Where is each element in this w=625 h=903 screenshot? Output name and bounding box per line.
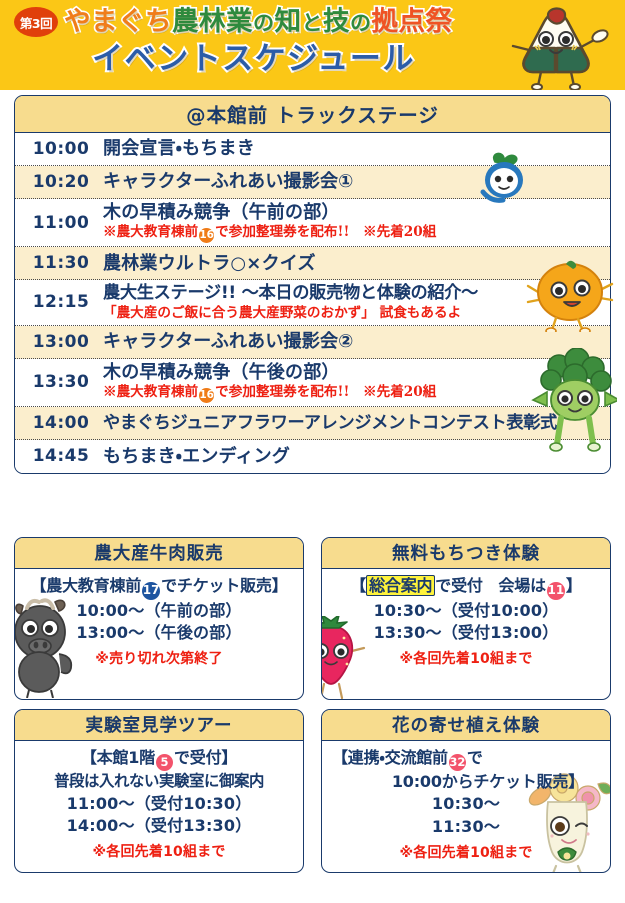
info-box-lab-tour: 実験室見学ツアー 【本館1階5で受付】 普段は入れない実験室に御案内 11:00… <box>14 709 304 873</box>
venue-post: でチケット販売】 <box>161 576 287 595</box>
session-time: 13:30～（受付13:00） <box>326 622 606 645</box>
row-title: 木の早積み競争（午前の部） <box>103 202 606 223</box>
schedule-row: 10:00 開会宣言・もちまき <box>15 133 610 166</box>
edition-badge: 第3回 <box>14 7 58 37</box>
row-note: ※農大教育棟前16で参加整理券を配布!! ※先着20組 <box>103 224 606 243</box>
row-note-post: で参加整理券を配布!! ※先着20組 <box>215 384 436 400</box>
schedule-row: 11:30 農林業ウルトラ○×クイズ <box>15 247 610 280</box>
row-body: 木の早積み競争（午前の部） ※農大教育棟前16で参加整理券を配布!! ※先着20… <box>101 199 610 246</box>
info-box-body: 【総合案内で受付 会場は11】 10:30～（受付10:00） 13:30～（受… <box>322 569 610 668</box>
row-body: キャラクターふれあい撮影会② <box>101 328 610 355</box>
info-box-title: 花の寄せ植え体験 <box>322 710 610 741</box>
row-note-pre: ※農大教育棟前 <box>103 384 198 400</box>
session-time: 14:00～（受付13:30） <box>19 815 299 838</box>
venue-highlight: 総合案内 <box>366 575 435 596</box>
info-box-note: ※各回先着10組まで <box>19 841 299 861</box>
venue-post: 】 <box>566 576 582 595</box>
row-title: キャラクターふれあい撮影会② <box>103 331 606 352</box>
venue-line: 【農大教育棟前17でチケット販売】 <box>19 575 299 600</box>
row-title: キャラクターふれあい撮影会① <box>103 171 606 192</box>
schedule-row: 10:20 キャラクターふれあい撮影会① <box>15 166 610 199</box>
header-title-row: 第3回 やまぐち農林業の知と技の拠点祭 <box>14 7 453 37</box>
session-time: 10:30～（受付10:00） <box>326 600 606 623</box>
info-box-body: 【連携・交流館前32で 10:00からチケット販売】 10:30～ 11:30～… <box>322 741 610 862</box>
venue-pre: 【 <box>350 576 366 595</box>
info-box-note: ※各回先着10組まで <box>326 842 606 862</box>
onigiri-mascot-icon <box>501 2 611 90</box>
session-time: 10:00～（午前の部） <box>19 600 299 623</box>
row-body: 開会宣言・もちまき <box>101 135 610 162</box>
row-note: 「農大産のご飯に合う農大産野菜のおかず」 試食もあるよ <box>103 305 606 322</box>
schedule-card: @本館前 トラックステージ 10:00 開会宣言・もちまき 10:20 キャラク… <box>14 95 611 474</box>
row-body: 木の早積み競争（午後の部） ※農大教育棟前16で参加整理券を配布!! ※先着20… <box>101 359 610 406</box>
info-box-title: 無料もちつき体験 <box>322 538 610 569</box>
schedule-row: 13:00 キャラクターふれあい撮影会② <box>15 326 610 359</box>
info-box-flower-planting: 花の寄せ植え体験 【連携・交流館前32で 10:00からチケット販売】 10:3… <box>321 709 611 873</box>
session-time: 11:00～（受付10:30） <box>19 793 299 816</box>
row-title: もちまき・エンディング <box>103 446 606 467</box>
location-badge-icon: 17 <box>142 582 160 600</box>
row-title: 開会宣言・もちまき <box>103 138 606 159</box>
row-time: 11:00 <box>15 213 101 233</box>
row-time: 13:00 <box>15 332 101 352</box>
location-badge-icon: 11 <box>547 582 565 600</box>
venue-post: で <box>467 748 483 767</box>
row-title: 農林業ウルトラ○×クイズ <box>103 253 606 274</box>
venue-pre: 【連携・交流館前 <box>332 748 448 767</box>
row-body: 農大生ステージ!! ～本日の販売物と体験の紹介～ 「農大産のご飯に合う農大産野菜… <box>101 280 610 324</box>
row-time: 13:30 <box>15 372 101 392</box>
row-body: 農林業ウルトラ○×クイズ <box>101 250 610 277</box>
schedule-row: 14:45 もちまき・エンディング <box>15 440 610 473</box>
info-box-description: 普段は入れない実験室に御案内 <box>19 771 299 793</box>
row-note-pre: ※農大教育棟前 <box>103 224 198 240</box>
info-box-mochi-experience: 無料もちつき体験 【総合案内で受付 会場は11】 10:30～（受付10:00）… <box>321 537 611 700</box>
row-body: もちまき・エンディング <box>101 443 610 470</box>
schedule-row: 13:30 木の早積み競争（午後の部） ※農大教育棟前16で参加整理券を配布!!… <box>15 359 610 407</box>
info-box-title: 農大産牛肉販売 <box>15 538 303 569</box>
venue-line: 【連携・交流館前32で <box>326 747 606 771</box>
venue-pre: 【本館1階 <box>81 748 155 767</box>
row-title: 農大生ステージ!! ～本日の販売物と体験の紹介～ <box>103 283 606 303</box>
location-badge-icon: 32 <box>449 754 466 771</box>
row-time: 14:00 <box>15 413 101 433</box>
row-note-post: で参加整理券を配布!! ※先着20組 <box>215 224 436 240</box>
location-badge-icon: 16 <box>199 388 214 403</box>
session-time: 13:00～（午後の部） <box>19 622 299 645</box>
info-box-title: 実験室見学ツアー <box>15 710 303 741</box>
row-time: 11:30 <box>15 253 101 273</box>
row-title: やまぐちジュニアフラワーアレンジメントコンテスト表彰式 <box>103 413 606 433</box>
row-time: 12:15 <box>15 292 101 312</box>
venue-mid: で受付 会場は <box>435 576 546 595</box>
row-body: やまぐちジュニアフラワーアレンジメントコンテスト表彰式 <box>101 410 610 436</box>
venue-line: 【総合案内で受付 会場は11】 <box>326 575 606 600</box>
row-note: ※農大教育棟前16で参加整理券を配布!! ※先着20組 <box>103 384 606 403</box>
info-box-beef-sale: 農大産牛肉販売 【農大教育棟前17でチケット販売】 10:00～（午前の部） 1… <box>14 537 304 700</box>
venue-pre: 【農大教育棟前 <box>30 576 141 595</box>
session-time: 10:30～ <box>326 793 606 816</box>
schedule-row: 12:15 農大生ステージ!! ～本日の販売物と体験の紹介～ 「農大産のご飯に合… <box>15 280 610 325</box>
header-banner: 第3回 やまぐち農林業の知と技の拠点祭 イベントスケジュール <box>0 0 625 90</box>
row-time: 10:20 <box>15 172 101 192</box>
schedule-heading: @本館前 トラックステージ <box>15 96 610 133</box>
row-body: キャラクターふれあい撮影会① <box>101 168 610 195</box>
location-badge-icon: 5 <box>156 754 173 771</box>
schedule-row: 14:00 やまぐちジュニアフラワーアレンジメントコンテスト表彰式 <box>15 407 610 440</box>
venue-line-2: 10:00からチケット販売】 <box>326 771 606 794</box>
venue-line: 【本館1階5で受付】 <box>19 747 299 771</box>
page-title: やまぐち農林業の知と技の拠点祭 <box>64 9 453 36</box>
info-box-note: ※各回先着10組まで <box>326 648 606 668</box>
location-badge-icon: 16 <box>199 228 214 243</box>
session-time: 11:30～ <box>326 816 606 839</box>
row-time: 14:45 <box>15 446 101 466</box>
info-box-body: 【本館1階5で受付】 普段は入れない実験室に御案内 11:00～（受付10:30… <box>15 741 303 861</box>
row-title: 木の早積み競争（午後の部） <box>103 362 606 383</box>
schedule-row: 11:00 木の早積み競争（午前の部） ※農大教育棟前16で参加整理券を配布!!… <box>15 199 610 247</box>
venue-post: で受付】 <box>174 748 237 767</box>
info-box-body: 【農大教育棟前17でチケット販売】 10:00～（午前の部） 13:00～（午後… <box>15 569 303 668</box>
info-box-grid: 農大産牛肉販売 【農大教育棟前17でチケット販売】 10:00～（午前の部） 1… <box>14 537 611 873</box>
info-box-note: ※売り切れ次第終了 <box>19 648 299 668</box>
row-time: 10:00 <box>15 139 101 159</box>
